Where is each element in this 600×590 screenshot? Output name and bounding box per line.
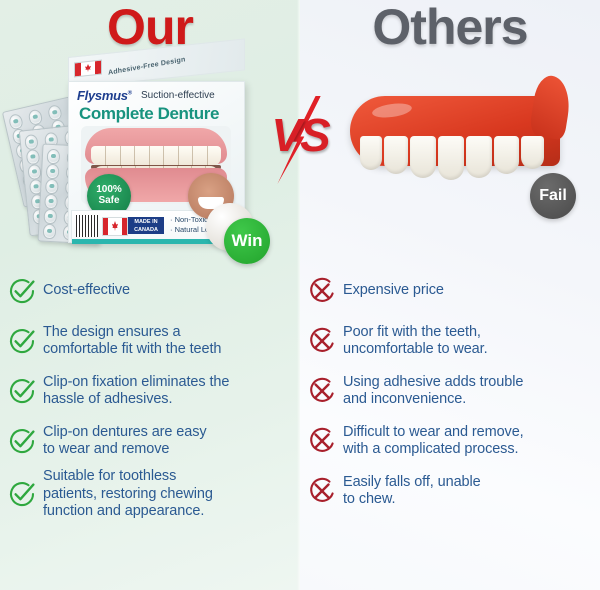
feature-text-line: comfortable fit with the teeth [43,341,221,359]
cross-circle-icon [308,377,336,405]
tooth-separator [178,146,179,166]
feature-row: Using adhesive adds troubleand inconveni… [300,366,600,416]
cons-list: Expensive pricePoor fit with the teeth,u… [300,266,600,516]
feature-text-line: Clip-on dentures are easy [43,424,207,442]
denture-clip-pill [44,194,58,210]
brand-name: Flysmus® [77,88,132,103]
comparison-poster: Our Others Adhesive-Free Design Flysmus®… [0,0,600,590]
cross-circle-icon [308,477,336,505]
feature-text: Expensive price [343,282,444,300]
denture-clip-pill [43,224,57,240]
feature-text: Clip-on fixation eliminates thehassle of… [43,374,229,409]
cross-circle-icon [308,377,336,405]
feature-text: Using adhesive adds troubleand inconveni… [343,374,523,409]
denture-clip-pill [27,164,41,180]
feature-row: Suitable for toothlesspatients, restorin… [0,466,300,523]
denture-clip-pill [26,149,40,165]
feature-text-line: function and appearance. [43,503,213,521]
check-circle-icon [8,277,36,305]
feature-text-line: Suitable for toothless [43,468,213,486]
check-circle-icon [8,327,36,355]
cross-circle-icon [308,277,336,305]
check-circle-icon [8,480,36,508]
denture-clip-pill [47,104,63,122]
win-badge: Win [224,218,270,264]
check-circle-icon [8,277,36,305]
feature-row: Cost-effective [0,266,300,316]
feature-text-line: Cost-effective [43,282,130,300]
cross-circle-icon [308,327,336,355]
feature-text-line: and inconvenience. [343,391,523,409]
feature-row: Poor fit with the teeth,uncomfortable to… [300,316,600,366]
feature-text: Suitable for toothlesspatients, restorin… [43,468,213,521]
feature-text-line: Easily falls off, unable [343,474,481,492]
veneer-teeth [360,136,556,186]
pros-list: Cost-effectiveThe design ensures acomfor… [0,266,300,523]
denture-clip-pill [45,179,59,195]
tooth-separator [192,146,193,166]
denture-clip-pill [46,164,60,180]
tooth-separator [105,146,106,166]
feature-text-line: hassle of adhesives. [43,391,229,409]
canada-flag-icon [74,60,102,78]
product-name: Complete Denture [79,104,219,124]
feature-row: Expensive price [300,266,600,316]
check-circle-icon [8,427,36,455]
feature-text: Easily falls off, unableto chew. [343,474,481,509]
check-circle-icon [8,480,36,508]
made-in-badge: MADE IN CANADA [128,217,164,234]
feature-text-line: Using adhesive adds trouble [343,374,523,392]
feature-text-line: Expensive price [343,282,444,300]
cross-circle-icon [308,427,336,455]
denture-clip-pill [43,209,57,225]
tooth-separator [149,146,150,166]
tooth-separator [163,146,164,166]
feature-text-line: with a complicated process. [343,441,524,459]
feature-text: Clip-on dentures are easyto wear and rem… [43,424,207,459]
cross-circle-icon [308,277,336,305]
tooth-separator [134,146,135,166]
feature-text-line: to chew. [343,491,481,509]
feature-row: Clip-on fixation eliminates thehassle of… [0,366,300,416]
tooth-separator [207,146,208,166]
check-circle-icon [8,377,36,405]
upper-teeth [91,146,221,166]
feature-text-line: Clip-on fixation eliminates the [43,374,229,392]
feature-text-line: Difficult to wear and remove, [343,424,524,442]
feature-text: The design ensures acomfortable fit with… [43,324,221,359]
tooth-separator [120,146,121,166]
vs-label: VS [252,108,348,162]
denture-clip-pill [8,113,24,131]
feature-row: The design ensures acomfortable fit with… [0,316,300,366]
cross-circle-icon [308,477,336,505]
feature-row: Clip-on dentures are easyto wear and rem… [0,416,300,466]
check-circle-icon [8,377,36,405]
feature-text-line: patients, restoring chewing [43,486,213,504]
feature-text: Cost-effective [43,282,130,300]
check-circle-icon [8,427,36,455]
feature-row: Easily falls off, unableto chew. [300,466,600,516]
cross-circle-icon [308,427,336,455]
check-circle-icon [8,327,36,355]
vs-divider: VS [252,100,348,180]
feature-row: Difficult to wear and remove,with a comp… [300,416,600,466]
others-title: Others [300,2,600,52]
feature-text: Difficult to wear and remove,with a comp… [343,424,524,459]
barcode-icon [76,215,98,237]
feature-text-line: Poor fit with the teeth, [343,324,488,342]
feature-text: Poor fit with the teeth,uncomfortable to… [343,324,488,359]
denture-clip-pill [47,149,61,165]
canada-flag-icon [102,217,128,236]
feature-text-line: to wear and remove [43,441,207,459]
suction-text: Suction-effective [141,90,215,101]
our-title: Our [0,2,300,52]
feature-text-line: uncomfortable to wear. [343,341,488,359]
fail-badge: Fail [530,173,576,219]
denture-clip-pill [27,108,43,126]
cross-circle-icon [308,327,336,355]
denture-clip-pill [24,134,38,150]
feature-text-line: The design ensures a [43,324,221,342]
